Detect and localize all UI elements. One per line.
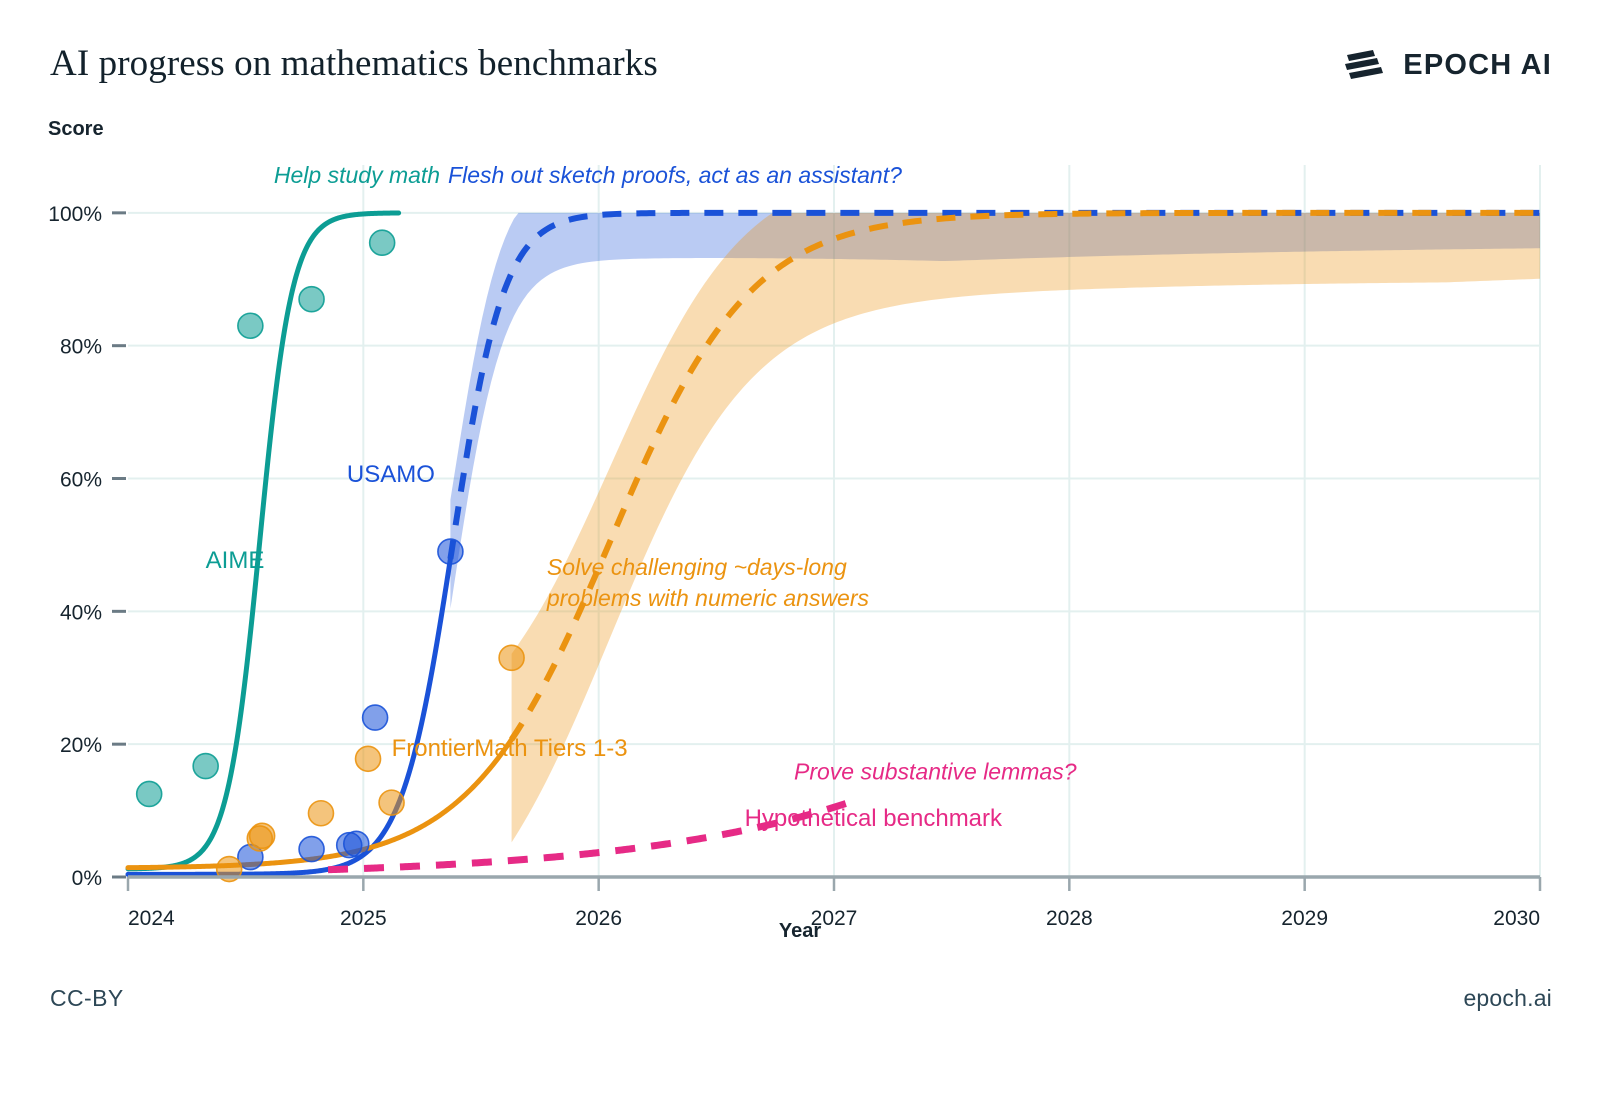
brand-logo: EPOCH AI: [1343, 48, 1552, 82]
annotation-aime: Help study math: [274, 162, 440, 188]
epoch-bars-icon: [1343, 48, 1389, 82]
data-point-usamo: [299, 837, 324, 862]
data-point-aime: [299, 287, 324, 312]
y-tick-label: 100%: [48, 203, 102, 226]
x-tick-label: 2025: [340, 907, 387, 930]
site-label: epoch.ai: [1463, 985, 1552, 1012]
data-point-usamo: [438, 539, 463, 564]
brand-name: EPOCH AI: [1403, 51, 1552, 80]
x-tick-label: 2030: [1493, 907, 1540, 930]
curve-solid-usamo: [128, 559, 450, 875]
y-tick-label: 40%: [60, 601, 102, 624]
license-label: CC-BY: [50, 985, 124, 1012]
data-point-frontiermath: [308, 801, 333, 826]
x-tick-label: 2027: [811, 907, 858, 930]
data-point-frontiermath: [379, 790, 404, 815]
series-label-usamo: USAMO: [347, 461, 435, 488]
data-point-frontiermath: [250, 823, 275, 848]
chart-page: AI progress on mathematics benchmarks EP…: [0, 0, 1600, 1110]
y-tick-label: 60%: [60, 469, 102, 492]
mathematics-benchmarks-chart: 20242025202620272028202920300%20%40%60%8…: [0, 105, 1600, 965]
annotation-line: problems with numeric answers: [546, 585, 870, 611]
page-header: AI progress on mathematics benchmarks EP…: [0, 0, 1600, 110]
annotation-hypothetical: Prove substantive lemmas?: [794, 758, 1077, 784]
x-tick-label: 2024: [128, 907, 175, 930]
y-tick-label: 0%: [72, 867, 102, 890]
data-point-usamo: [344, 831, 369, 856]
data-point-frontiermath: [499, 645, 524, 670]
annotation-usamo: Flesh out sketch proofs, act as an assis…: [448, 162, 902, 188]
annotation-line: Solve challenging ~days-long: [547, 554, 847, 580]
page-title: AI progress on mathematics benchmarks: [50, 42, 658, 85]
series-label-aime: AIME: [206, 547, 265, 574]
data-point-aime: [370, 230, 395, 255]
y-tick-label: 80%: [60, 336, 102, 359]
data-point-aime: [238, 313, 263, 338]
series-label-frontiermath: FrontierMath Tiers 1-3: [392, 735, 628, 762]
x-tick-label: 2026: [575, 907, 622, 930]
y-tick-label: 20%: [60, 734, 102, 757]
data-point-frontiermath: [356, 746, 381, 771]
curve-aime: [128, 213, 399, 869]
data-point-usamo: [363, 705, 388, 730]
data-point-aime: [137, 781, 162, 806]
x-tick-label: 2028: [1046, 907, 1093, 930]
data-point-aime: [193, 754, 218, 779]
chart-area: 20242025202620272028202920300%20%40%60%8…: [0, 105, 1600, 965]
series-label-hypothetical: Hypothetical benchmark: [745, 805, 1003, 832]
uncertainty-band-frontiermath: [512, 213, 1540, 843]
x-tick-label: 2029: [1281, 907, 1328, 930]
